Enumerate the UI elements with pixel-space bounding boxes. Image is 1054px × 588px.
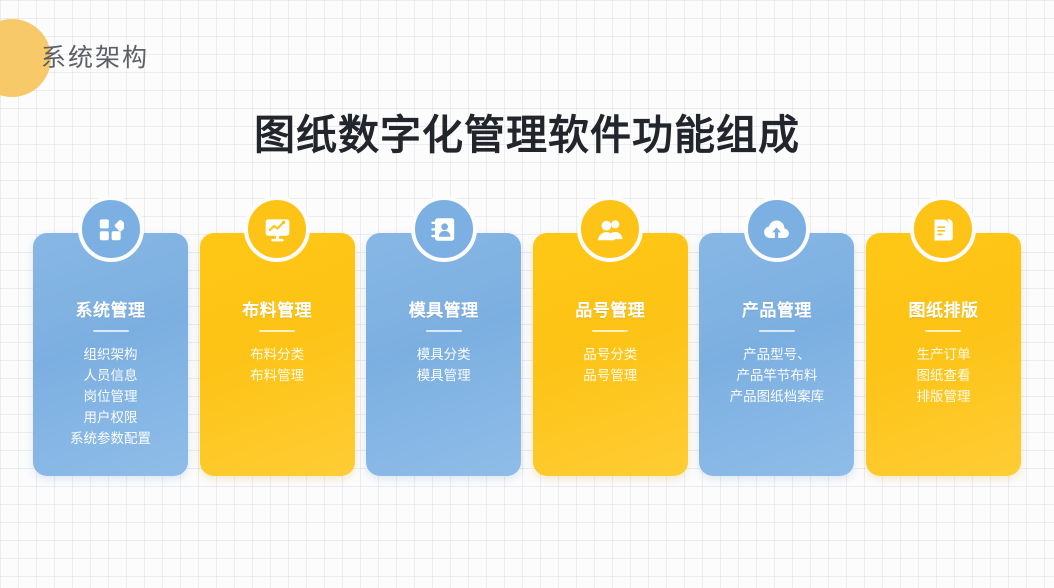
feature-item: 岗位管理 bbox=[84, 386, 138, 407]
feature-item-list: 生产订单图纸查看排版管理 bbox=[866, 344, 1021, 407]
feature-item: 用户权限 bbox=[84, 407, 138, 428]
feature-item: 品号分类 bbox=[583, 344, 637, 365]
users-group-icon bbox=[577, 196, 643, 262]
feature-card[interactable]: 产品管理产品型号、产品竿节布料产品图纸档案库 bbox=[699, 233, 854, 476]
feature-item-list: 组织架构人员信息岗位管理用户权限系统参数配置 bbox=[33, 344, 188, 449]
address-book-icon bbox=[411, 196, 477, 262]
feature-card-title: 布料管理 bbox=[242, 296, 312, 321]
grid-squares-icon bbox=[78, 196, 144, 262]
feature-item: 布料分类 bbox=[250, 344, 304, 365]
feature-card[interactable]: 布料管理布料分类布料管理 bbox=[200, 233, 355, 476]
section-eyebrow-label: 系统架构 bbox=[41, 38, 149, 74]
feature-item: 模具管理 bbox=[417, 365, 471, 386]
title-divider bbox=[925, 330, 961, 332]
title-divider bbox=[259, 330, 295, 332]
feature-card-title: 产品管理 bbox=[742, 296, 812, 321]
feature-item: 生产订单 bbox=[916, 344, 970, 365]
feature-card[interactable]: 品号管理品号分类品号管理 bbox=[533, 233, 688, 476]
document-page-icon bbox=[910, 196, 976, 262]
feature-item-list: 品号分类品号管理 bbox=[533, 344, 688, 386]
feature-item-list: 模具分类模具管理 bbox=[366, 344, 521, 386]
title-divider bbox=[759, 330, 795, 332]
feature-item-list: 布料分类布料管理 bbox=[200, 344, 355, 386]
feature-card-title: 品号管理 bbox=[575, 296, 645, 321]
feature-item: 人员信息 bbox=[84, 365, 138, 386]
title-divider bbox=[592, 330, 628, 332]
title-divider bbox=[426, 330, 462, 332]
feature-card[interactable]: 模具管理模具分类模具管理 bbox=[366, 233, 521, 476]
feature-item: 图纸查看 bbox=[916, 365, 970, 386]
feature-item: 排版管理 bbox=[916, 386, 970, 407]
feature-card[interactable]: 图纸排版生产订单图纸查看排版管理 bbox=[866, 233, 1021, 476]
monitor-chart-icon bbox=[244, 196, 310, 262]
feature-card-title: 模具管理 bbox=[409, 296, 479, 321]
feature-item: 模具分类 bbox=[417, 344, 471, 365]
feature-item: 产品竿节布料 bbox=[736, 365, 817, 386]
page-title: 图纸数字化管理软件功能组成 bbox=[0, 101, 1054, 161]
feature-item: 布料管理 bbox=[250, 365, 304, 386]
feature-item: 组织架构 bbox=[84, 344, 138, 365]
feature-item: 系统参数配置 bbox=[70, 428, 151, 449]
feature-item: 产品型号、 bbox=[743, 344, 811, 365]
cloud-upload-icon bbox=[744, 196, 810, 262]
feature-item: 产品图纸档案库 bbox=[730, 386, 825, 407]
feature-card-title: 系统管理 bbox=[76, 296, 146, 321]
feature-item: 品号管理 bbox=[583, 365, 637, 386]
title-divider bbox=[93, 330, 129, 332]
feature-card-row: 系统管理组织架构人员信息岗位管理用户权限系统参数配置布料管理布料分类布料管理模具… bbox=[33, 233, 1021, 476]
feature-card-title: 图纸排版 bbox=[908, 296, 978, 321]
feature-card[interactable]: 系统管理组织架构人员信息岗位管理用户权限系统参数配置 bbox=[33, 233, 188, 476]
feature-item-list: 产品型号、产品竿节布料产品图纸档案库 bbox=[699, 344, 854, 407]
